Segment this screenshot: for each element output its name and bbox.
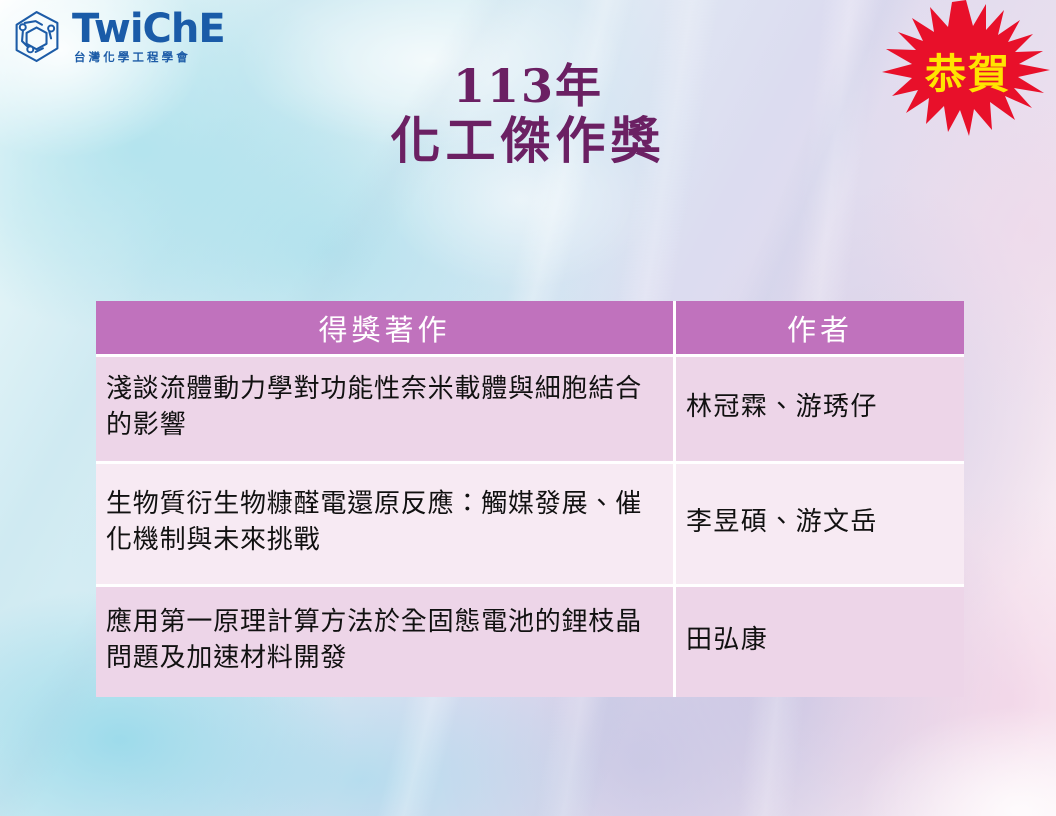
table-row: 生物質衍生物糠醛電還原反應：觸媒發展、催化機制與未來挑戰 李昱碩、游文岳 <box>96 464 964 587</box>
column-header-author: 作者 <box>676 301 964 357</box>
society-logo: TwiChE 台灣化學工程學會 <box>8 8 225 66</box>
cell-author-3: 田弘康 <box>676 587 964 697</box>
table-row: 應用第一原理計算方法於全固態電池的鋰枝晶問題及加速材料開發 田弘康 <box>96 587 964 697</box>
column-header-work: 得獎著作 <box>96 301 676 357</box>
cell-author-2: 李昱碩、游文岳 <box>676 464 964 587</box>
page-title: 113年 化工傑作獎 <box>0 62 1056 170</box>
society-name-latin: TwiChE <box>72 10 225 49</box>
cell-author-1: 林冠霖、游琇仔 <box>676 357 964 464</box>
award-table-container: 得獎著作 作者 淺談流體動力學對功能性奈米載體與細胞結合的影響 林冠霖、游琇仔 … <box>96 301 964 697</box>
hexagon-molecule-icon <box>8 8 66 66</box>
cell-work-3: 應用第一原理計算方法於全固態電池的鋰枝晶問題及加速材料開發 <box>96 587 676 697</box>
table-header-row: 得獎著作 作者 <box>96 301 964 357</box>
award-table: 得獎著作 作者 淺談流體動力學對功能性奈米載體與細胞結合的影響 林冠霖、游琇仔 … <box>96 301 964 697</box>
title-award-name: 化工傑作獎 <box>0 111 1056 170</box>
table-row: 淺談流體動力學對功能性奈米載體與細胞結合的影響 林冠霖、游琇仔 <box>96 357 964 464</box>
award-table-body: 淺談流體動力學對功能性奈米載體與細胞結合的影響 林冠霖、游琇仔 生物質衍生物糠醛… <box>96 357 964 697</box>
award-slide: TwiChE 台灣化學工程學會 恭賀 113年 化工傑作獎 得獎著作 作者 <box>0 0 1056 816</box>
title-year: 113年 <box>0 62 1056 111</box>
cell-work-1: 淺談流體動力學對功能性奈米載體與細胞結合的影響 <box>96 357 676 464</box>
cell-work-2: 生物質衍生物糠醛電還原反應：觸媒發展、催化機制與未來挑戰 <box>96 464 676 587</box>
society-logo-text: TwiChE 台灣化學工程學會 <box>72 10 225 64</box>
award-table-head: 得獎著作 作者 <box>96 301 964 357</box>
